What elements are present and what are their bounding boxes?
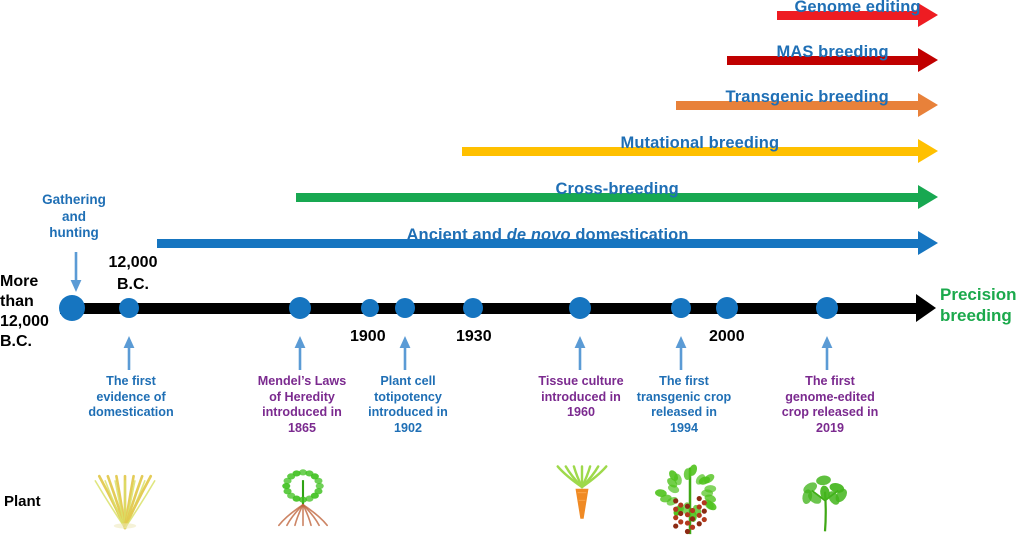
event-connector-arrow-icon-6 <box>820 336 834 370</box>
axis-12000bc-line-2: B.C. <box>100 274 166 296</box>
era-arrow-4: Mutational breeding <box>0 136 1024 166</box>
event-caption-line: crop released in <box>768 405 892 421</box>
era-arrow-head-icon <box>918 231 938 255</box>
event-caption-6: The firstgenome-editedcrop released in20… <box>768 374 892 436</box>
era-arrow-head-icon <box>918 139 938 163</box>
event-caption-2: Mendel’s Lawsof Heredityintroduced in186… <box>244 374 360 436</box>
event-caption-line: genome-edited <box>768 390 892 406</box>
era-arrow-2: MAS breeding <box>0 45 1024 75</box>
timeline-node-10[interactable] <box>816 297 838 319</box>
era-arrow-label: Transgenic breeding <box>726 88 889 107</box>
leafy-plant <box>788 458 862 548</box>
axis-12000bc-label: 12,000 B.C. <box>100 252 166 296</box>
event-caption-3: Plant celltotipotencyintroduced in1902 <box>352 374 464 436</box>
event-connector-arrow-icon-4 <box>573 336 587 370</box>
timeline-diagram: Genome editingMAS breedingTransgenic bre… <box>0 0 1024 550</box>
axis-start-label: More than 12,000 B.C. <box>0 272 62 352</box>
precision-breeding-label: Precision breeding <box>940 284 1024 326</box>
event-connector-arrow-icon-1 <box>122 336 136 370</box>
timeline-node-6[interactable] <box>463 298 483 318</box>
event-caption-line: The first <box>768 374 892 390</box>
era-arrow-label: MAS breeding <box>777 43 889 62</box>
era-arrow-5: Cross-breeding <box>0 182 1024 212</box>
timeline-node-5[interactable] <box>395 298 415 318</box>
event-connector-arrow-icon-2 <box>293 336 307 370</box>
timeline-axis-arrow-icon <box>916 294 936 322</box>
event-caption-5: The firsttransgenic cropreleased in1994 <box>623 374 745 436</box>
axis-start-line-1: More <box>0 272 62 292</box>
axis-start-line-3: 12,000 <box>0 312 62 332</box>
event-caption-line: introduced in <box>352 405 464 421</box>
event-caption-line: of Heredity <box>244 390 360 406</box>
era-arrow-label: Cross-breeding <box>556 180 679 199</box>
timeline-node-2[interactable] <box>119 298 139 318</box>
carrot-plant <box>555 440 609 548</box>
gathering-and-hunting-label: Gathering and hunting <box>28 192 120 242</box>
axis-year-label-1900: 1900 <box>350 328 386 346</box>
plant-row-label: Plant <box>4 493 41 510</box>
timeline-node-9[interactable] <box>716 297 738 319</box>
event-caption-line: transgenic crop <box>623 390 745 406</box>
event-caption-line: domestication <box>72 405 190 421</box>
gathering-line-3: hunting <box>28 225 120 242</box>
axis-12000bc-line-1: 12,000 <box>100 252 166 274</box>
era-arrow-head-icon <box>918 93 938 117</box>
down-arrow-icon <box>69 252 83 292</box>
era-arrow-head-icon <box>918 48 938 72</box>
gathering-line-2: and <box>28 209 120 226</box>
event-connector-arrow-icon-5 <box>674 336 688 370</box>
event-caption-line: totipotency <box>352 390 464 406</box>
gathering-line-1: Gathering <box>28 192 120 209</box>
timeline-node-1[interactable] <box>59 295 85 321</box>
event-caption-line: 1902 <box>352 421 464 437</box>
event-connector-arrow-icon-3 <box>398 336 412 370</box>
event-caption-line: introduced in <box>244 405 360 421</box>
tomato-plant <box>648 451 732 548</box>
precision-line-2: breeding <box>940 305 1024 326</box>
era-arrow-1: Genome editing <box>0 0 1024 30</box>
axis-start-line-4: B.C. <box>0 332 62 352</box>
timeline-node-3[interactable] <box>289 297 311 319</box>
timeline-axis-line <box>60 303 916 314</box>
event-caption-line: The first <box>623 374 745 390</box>
timeline-node-4[interactable] <box>361 299 379 317</box>
era-arrow-label: Mutational breeding <box>621 134 780 153</box>
era-arrow-head-icon <box>918 3 938 27</box>
era-arrow-label: Genome editing <box>795 0 921 17</box>
axis-start-line-2: than <box>0 292 62 312</box>
event-caption-line: 1994 <box>623 421 745 437</box>
event-caption-line: The first <box>72 374 190 390</box>
event-caption-line: evidence of <box>72 390 190 406</box>
event-caption-line: released in <box>623 405 745 421</box>
timeline-node-8[interactable] <box>671 298 691 318</box>
event-caption-line: 2019 <box>768 421 892 437</box>
era-arrow-3: Transgenic breeding <box>0 90 1024 120</box>
event-caption-line: 1865 <box>244 421 360 437</box>
timeline-node-7[interactable] <box>569 297 591 319</box>
event-caption-1: The firstevidence ofdomestication <box>72 374 190 421</box>
era-arrow-label: Ancient and de novo domestication <box>407 226 689 245</box>
era-arrow-head-icon <box>918 185 938 209</box>
axis-year-label-1930: 1930 <box>456 328 492 346</box>
event-caption-line: Mendel’s Laws <box>244 374 360 390</box>
axis-year-label-2000: 2000 <box>709 328 745 346</box>
wheat-plant <box>92 454 158 548</box>
pea-plant <box>272 453 334 548</box>
event-caption-line: Plant cell <box>352 374 464 390</box>
precision-line-1: Precision <box>940 284 1024 305</box>
